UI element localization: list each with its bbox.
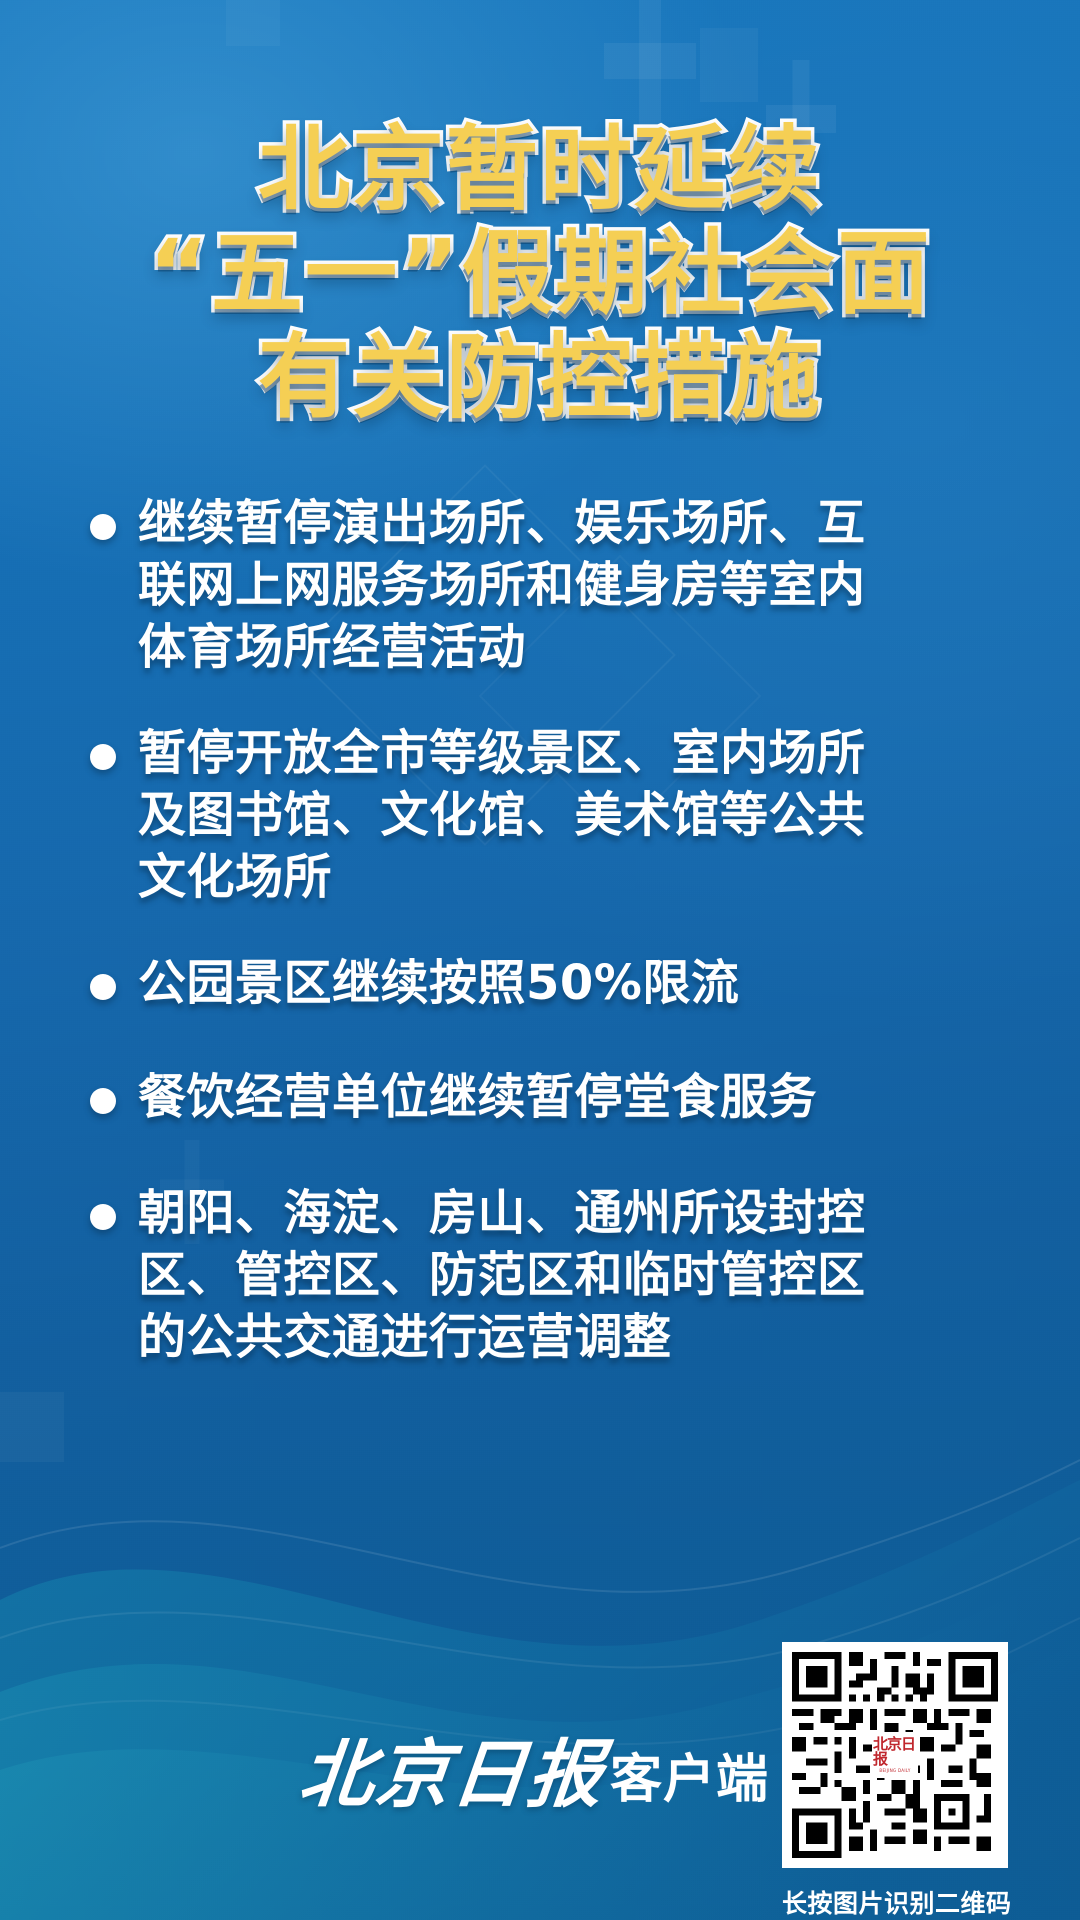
measures-list: 继续暂停演出场所、娱乐场所、互 联网上网服务场所和健身房等室内 体育场所经营活动… (0, 492, 1080, 1368)
list-item-line: 朝阳、海淀、房山、通州所设封控 (138, 1182, 866, 1244)
bullet-dot-icon (90, 1088, 116, 1114)
list-item-text: 餐饮经营单位继续暂停堂食服务 (138, 1066, 817, 1128)
qr-caption: 长按图片识别二维码 (782, 1884, 1008, 1920)
bullet-dot-icon (90, 974, 116, 1000)
qr-code-block: 北京日报 BEIJING DAILY 长按图片识别二维码 (782, 1642, 1008, 1920)
list-item-line: 的公共交通进行运营调整 (138, 1306, 866, 1368)
list-item: 公园景区继续按照50%限流 (90, 952, 1010, 1014)
list-item: 暂停开放全市等级景区、室内场所 及图书馆、文化馆、美术馆等公共 文化场所 (90, 722, 1010, 908)
qr-logo-english: BEIJING DAILY (879, 1769, 910, 1773)
title-line-3: 有关防控措施 (0, 326, 1080, 430)
list-item-line: 餐饮经营单位继续暂停堂食服务 (138, 1066, 817, 1128)
list-item: 餐饮经营单位继续暂停堂食服务 (90, 1066, 1010, 1128)
poster-canvas: 北京暂时延续 “五一”假期社会面 有关防控措施 继续暂停演出场所、娱乐场所、互 … (0, 0, 1080, 1920)
list-item-text: 朝阳、海淀、房山、通州所设封控 区、管控区、防范区和临时管控区 的公共交通进行运… (138, 1182, 866, 1368)
list-item-line: 公园景区继续按照50%限流 (138, 952, 739, 1014)
title-line-1: 北京暂时延续 (0, 118, 1080, 222)
list-item-line: 文化场所 (138, 846, 866, 908)
watermark-square-3 (0, 1392, 64, 1462)
list-item-line: 及图书馆、文化馆、美术馆等公共 (138, 784, 866, 846)
qr-center-logo: 北京日报 BEIJING DAILY (872, 1732, 918, 1778)
poster-footer: 北京日报 客户端 (0, 1590, 1080, 1920)
list-item: 朝阳、海淀、房山、通州所设封控 区、管控区、防范区和临时管控区 的公共交通进行运… (90, 1182, 1010, 1368)
brand-name-calligraphy: 北京日报 (296, 1738, 608, 1812)
poster-title: 北京暂时延续 “五一”假期社会面 有关防控措施 (0, 118, 1080, 430)
brand-logo: 北京日报 客户端 (300, 1738, 769, 1812)
watermark-square-1 (700, 28, 758, 102)
watermark-square-2 (226, 0, 280, 46)
title-line-2: “五一”假期社会面 (0, 222, 1080, 326)
qr-logo-chinese: 北京日报 (873, 1737, 917, 1767)
list-item: 继续暂停演出场所、娱乐场所、互 联网上网服务场所和健身房等室内 体育场所经营活动 (90, 492, 1010, 678)
bullet-dot-icon (90, 744, 116, 770)
list-item-text: 暂停开放全市等级景区、室内场所 及图书馆、文化馆、美术馆等公共 文化场所 (138, 722, 866, 908)
list-item-line: 联网上网服务场所和健身房等室内 (138, 554, 866, 616)
list-item-line: 体育场所经营活动 (138, 616, 866, 678)
brand-app-label: 客户端 (610, 1752, 769, 1812)
list-item-text: 继续暂停演出场所、娱乐场所、互 联网上网服务场所和健身房等室内 体育场所经营活动 (138, 492, 866, 678)
bullet-dot-icon (90, 514, 116, 540)
list-item-line: 继续暂停演出场所、娱乐场所、互 (138, 492, 866, 554)
bullet-dot-icon (90, 1204, 116, 1230)
list-item-line: 暂停开放全市等级景区、室内场所 (138, 722, 866, 784)
list-item-line: 区、管控区、防范区和临时管控区 (138, 1244, 866, 1306)
qr-code-image[interactable]: 北京日报 BEIJING DAILY (782, 1642, 1008, 1868)
list-item-text: 公园景区继续按照50%限流 (138, 952, 739, 1014)
